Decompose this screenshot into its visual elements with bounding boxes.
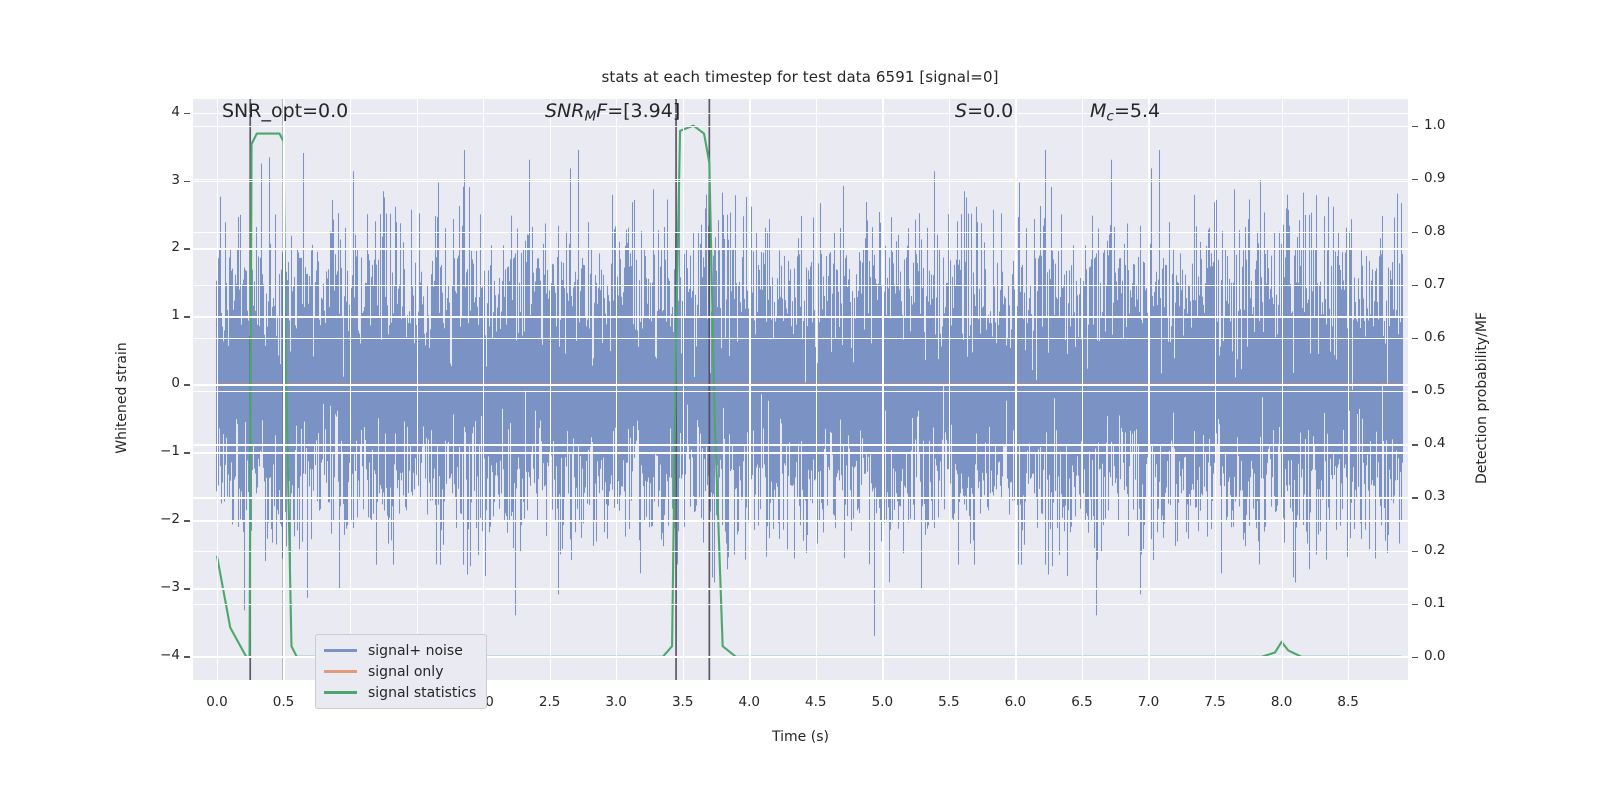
x-tick: 3.0 — [586, 694, 646, 710]
annotation-s-stat: S=0.0 — [955, 100, 1013, 122]
y-tick-left: 3 — [136, 172, 180, 188]
x-tick: 6.0 — [985, 694, 1045, 710]
tick-mark — [184, 520, 190, 521]
y-tick-right: 0.9 — [1424, 170, 1470, 186]
tick-mark — [1412, 232, 1418, 233]
y-tick-right: 0.3 — [1424, 488, 1470, 504]
legend-label: signal statistics — [368, 685, 476, 701]
gridline-vertical — [816, 99, 817, 680]
y-axis-label-left: Whitened strain — [114, 248, 130, 548]
y-tick-left: −3 — [136, 579, 180, 595]
tick-mark — [184, 656, 190, 657]
gridline-horizontal-secondary — [193, 338, 1408, 339]
y-tick-left: −4 — [136, 647, 180, 663]
gridline-vertical — [1282, 99, 1283, 680]
gridline-horizontal-secondary — [193, 604, 1408, 605]
y-tick-right: 0.5 — [1424, 382, 1470, 398]
tick-mark — [1412, 551, 1418, 552]
tick-mark — [1412, 444, 1418, 445]
legend-item[interactable]: signal+ noise — [324, 640, 476, 661]
x-axis-label: Time (s) — [193, 729, 1408, 745]
y-tick-left: 1 — [136, 307, 180, 323]
gridline-horizontal — [193, 113, 1408, 114]
tick-mark — [184, 452, 190, 453]
gridline-vertical — [882, 99, 883, 680]
x-tick: 4.5 — [786, 694, 846, 710]
y-tick-left: 0 — [136, 375, 180, 391]
x-tick: 6.5 — [1052, 694, 1112, 710]
y-tick-right: 0.0 — [1424, 648, 1470, 664]
gridline-horizontal — [193, 588, 1408, 589]
gridline-vertical — [550, 99, 551, 680]
gridline-horizontal — [193, 248, 1408, 249]
gridline-horizontal-secondary — [193, 232, 1408, 233]
gridline-vertical — [1148, 99, 1149, 680]
tick-mark — [1412, 126, 1418, 127]
y-tick-right: 0.4 — [1424, 435, 1470, 451]
x-tick: 2.5 — [520, 694, 580, 710]
annotation-chirp-mass: Mc=5.4 — [1090, 100, 1160, 124]
gridline-horizontal — [193, 452, 1408, 453]
tick-mark — [1412, 285, 1418, 286]
x-tick: 7.5 — [1185, 694, 1245, 710]
y-tick-left: −1 — [136, 443, 180, 459]
tick-mark — [184, 248, 190, 249]
x-tick: 7.0 — [1118, 694, 1178, 710]
gridline-vertical — [283, 99, 284, 680]
tick-mark — [184, 384, 190, 385]
y-tick-right: 0.2 — [1424, 542, 1470, 558]
y-axis-label-right: Detection probability/MF — [1474, 248, 1490, 548]
gridline-vertical — [1082, 99, 1083, 680]
plot-area — [193, 99, 1408, 680]
x-tick: 4.0 — [719, 694, 779, 710]
y-tick-right: 0.7 — [1424, 276, 1470, 292]
gridline-horizontal — [193, 384, 1408, 385]
gridline-horizontal — [193, 181, 1408, 182]
gridline-vertical — [616, 99, 617, 680]
plot-svg — [193, 99, 1408, 680]
tick-mark — [184, 113, 190, 114]
tick-mark — [184, 316, 190, 317]
gridline-vertical — [1348, 99, 1349, 680]
tick-mark — [1412, 497, 1418, 498]
legend-swatch — [324, 691, 357, 693]
gridline-vertical — [417, 99, 418, 680]
annotation-snr-mf: SNRMF=[3.94] — [545, 100, 680, 124]
y-tick-left: 4 — [136, 104, 180, 120]
gridline-vertical — [1015, 99, 1016, 680]
y-tick-right: 0.1 — [1424, 595, 1470, 611]
x-tick: 8.0 — [1252, 694, 1312, 710]
x-tick: 3.5 — [653, 694, 713, 710]
legend-label: signal only — [368, 664, 443, 680]
x-tick: 8.5 — [1318, 694, 1378, 710]
tick-mark — [1412, 391, 1418, 392]
tick-mark — [1412, 657, 1418, 658]
legend-label: signal+ noise — [368, 643, 463, 659]
gridline-horizontal-secondary — [193, 497, 1408, 498]
y-tick-left: −2 — [136, 511, 180, 527]
gridline-horizontal — [193, 520, 1408, 521]
legend-swatch — [324, 670, 357, 672]
gridline-vertical — [949, 99, 950, 680]
tick-mark — [184, 181, 190, 182]
tick-mark — [1412, 338, 1418, 339]
chart-title: stats at each timestep for test data 659… — [0, 68, 1600, 86]
gridline-horizontal-secondary — [193, 285, 1408, 286]
tick-mark — [1412, 604, 1418, 605]
gridline-horizontal — [193, 316, 1408, 317]
gridline-vertical — [483, 99, 484, 680]
gridline-vertical — [683, 99, 684, 680]
gridline-horizontal-secondary — [193, 126, 1408, 127]
gridline-vertical — [1215, 99, 1216, 680]
gridline-vertical — [217, 99, 218, 680]
x-tick: 5.5 — [919, 694, 979, 710]
legend: signal+ noisesignal onlysignal statistic… — [315, 634, 487, 709]
series-signal-noise — [217, 150, 1403, 636]
legend-swatch — [324, 649, 357, 651]
tick-mark — [184, 588, 190, 589]
legend-item[interactable]: signal only — [324, 661, 476, 682]
x-tick: 0.0 — [187, 694, 247, 710]
gridline-vertical — [350, 99, 351, 680]
y-tick-right: 0.8 — [1424, 223, 1470, 239]
y-tick-right: 0.6 — [1424, 329, 1470, 345]
annotation-snr-opt: SNR_opt=0.0 — [222, 100, 348, 122]
y-tick-right: 1.0 — [1424, 117, 1470, 133]
gridline-horizontal-secondary — [193, 444, 1408, 445]
gridline-vertical — [749, 99, 750, 680]
gridline-horizontal-secondary — [193, 551, 1408, 552]
legend-item[interactable]: signal statistics — [324, 682, 476, 703]
gridline-horizontal-secondary — [193, 391, 1408, 392]
tick-mark — [1412, 179, 1418, 180]
figure-canvas: stats at each timestep for test data 659… — [0, 0, 1600, 800]
x-tick: 0.5 — [253, 694, 313, 710]
x-tick: 5.0 — [852, 694, 912, 710]
y-tick-left: 2 — [136, 239, 180, 255]
